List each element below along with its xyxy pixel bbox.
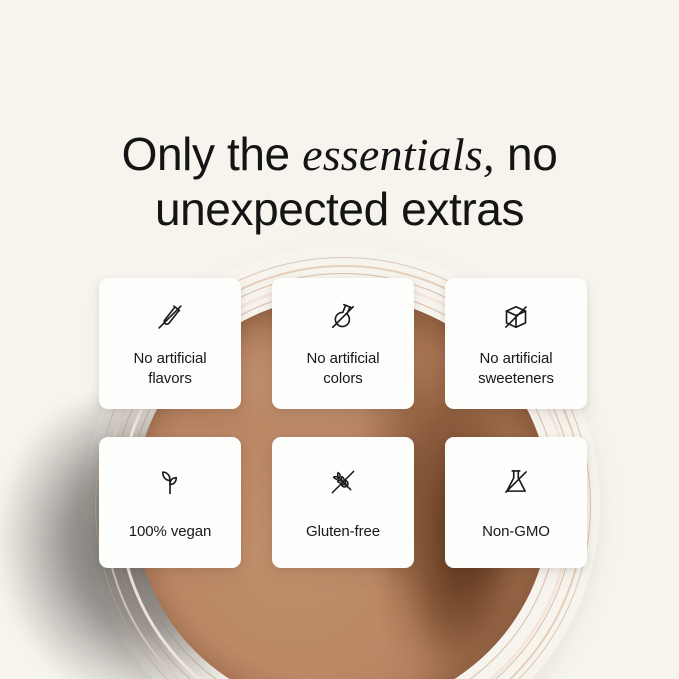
headline-text-post: no — [495, 128, 558, 180]
claim-card-no-artificial-colors[interactable]: No artificial colors — [272, 278, 414, 409]
product-claims-graphic: Only the essentials, no unexpected extra… — [0, 0, 679, 679]
claim-label: No artificial colors — [307, 349, 380, 389]
no-wheat-icon — [323, 462, 363, 502]
claim-label: 100% vegan — [129, 522, 211, 542]
claims-grid: No artificial flavors No artificial colo… — [99, 278, 588, 568]
page-title: Only the essentials, no unexpected extra… — [0, 127, 679, 237]
no-conical-flask-icon — [496, 462, 536, 502]
claim-label: No artificial sweeteners — [478, 349, 554, 389]
no-test-tube-icon — [150, 297, 190, 337]
headline-text-pre: Only the — [122, 128, 303, 180]
no-sugar-cube-icon — [496, 297, 536, 337]
claim-card-no-artificial-sweeteners[interactable]: No artificial sweeteners — [445, 278, 587, 409]
claim-card-no-artificial-flavors[interactable]: No artificial flavors — [99, 278, 241, 409]
claim-card-100-percent-vegan[interactable]: 100% vegan — [99, 437, 241, 568]
headline-line-1: Only the essentials, no — [0, 127, 679, 182]
headline-accent-word: essentials, — [302, 129, 495, 180]
no-round-flask-icon — [323, 297, 363, 337]
claim-label: Gluten-free — [306, 522, 380, 542]
sprout-icon — [150, 462, 190, 502]
claim-card-gluten-free[interactable]: Gluten-free — [272, 437, 414, 568]
headline-line-2: unexpected extras — [0, 182, 679, 237]
claim-label: Non-GMO — [482, 522, 550, 542]
claim-card-non-gmo[interactable]: Non-GMO — [445, 437, 587, 568]
claim-label: No artificial flavors — [134, 349, 207, 389]
